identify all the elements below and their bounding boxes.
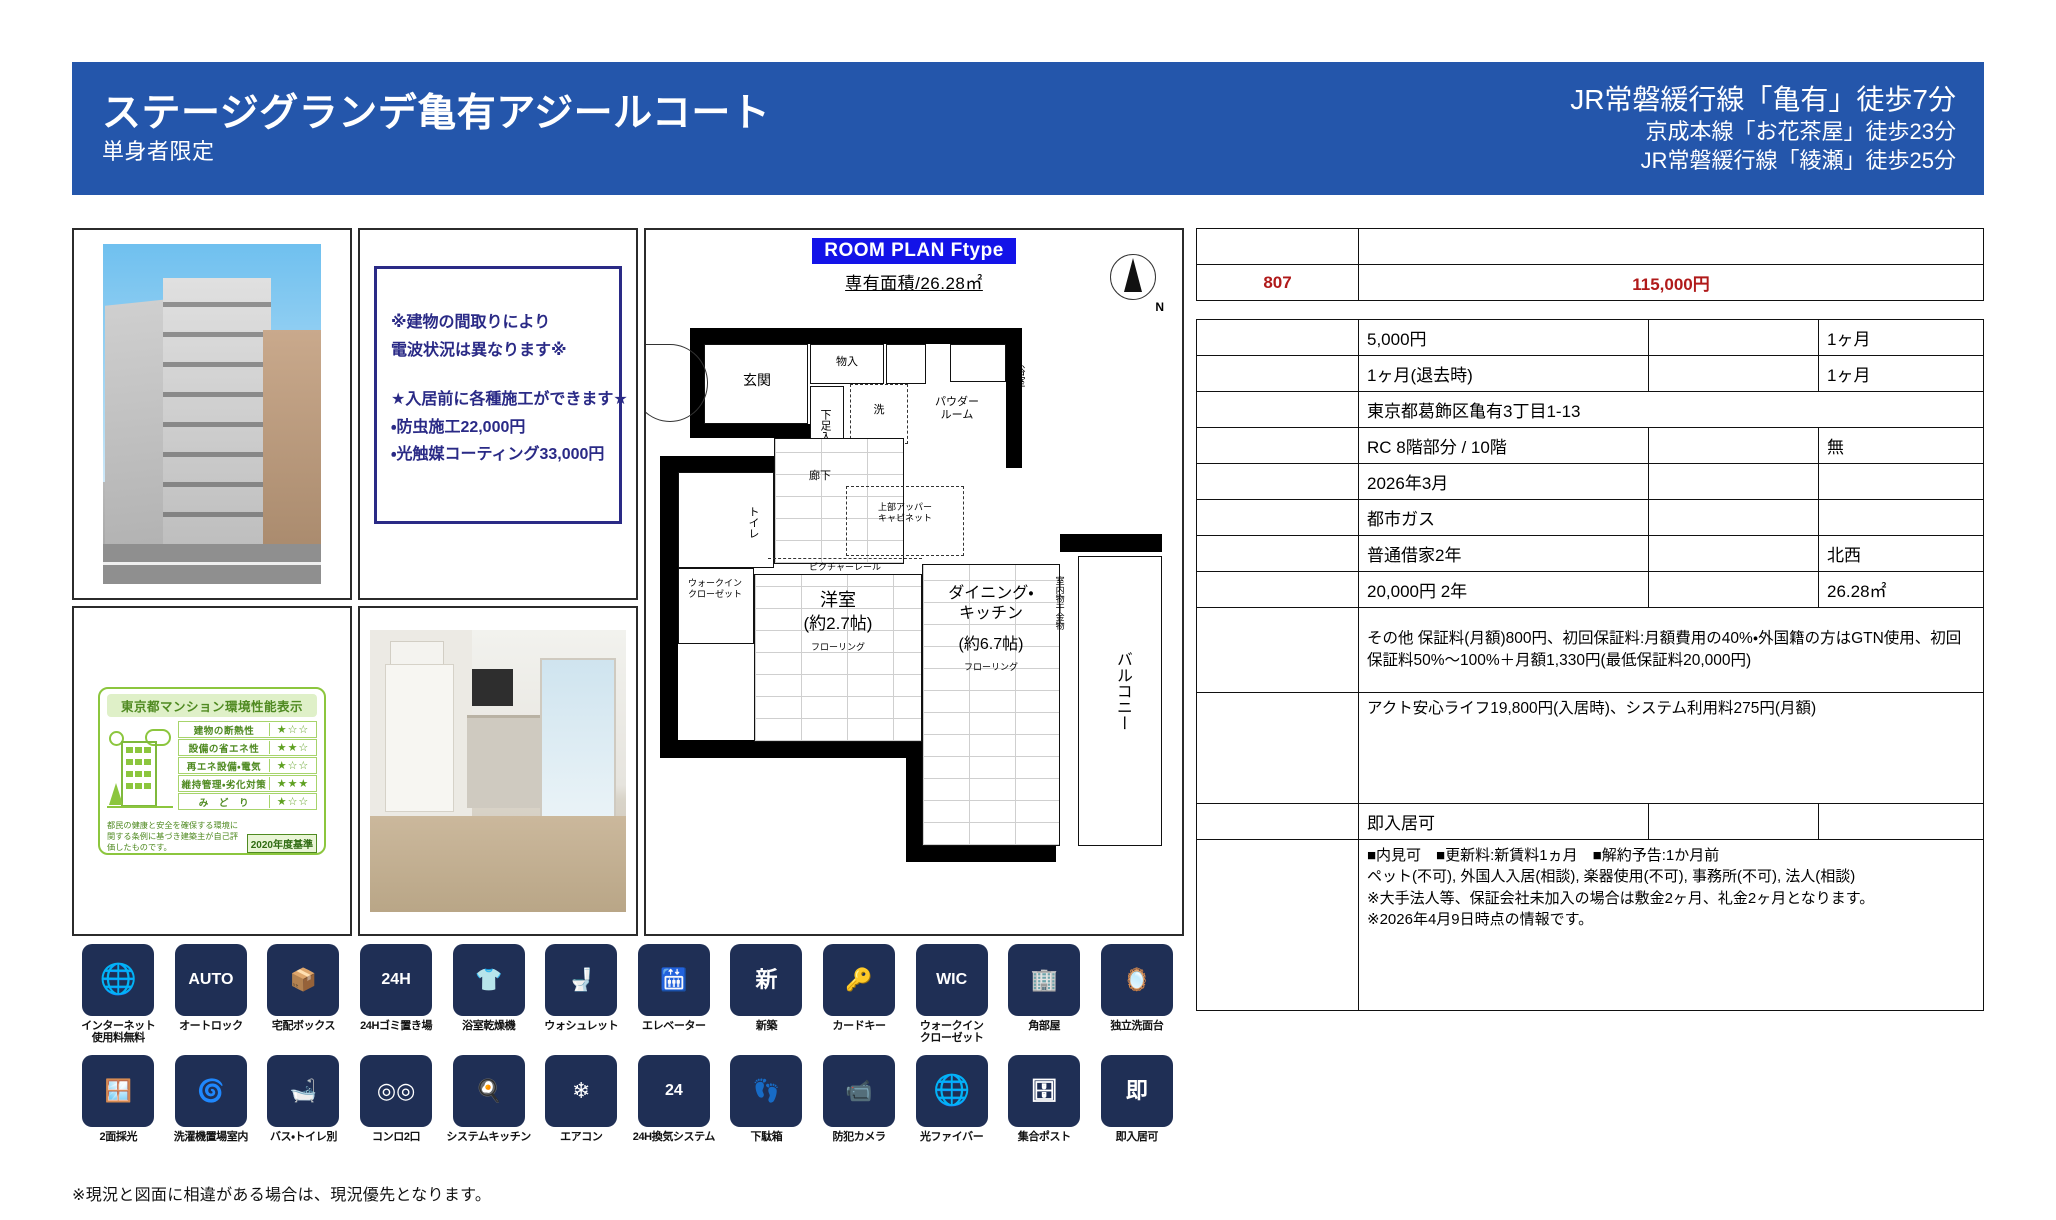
chikunengetsu-value: 2026年3月 [1359, 464, 1649, 500]
facility-label: 2面採光 [100, 1131, 138, 1143]
facility-label: ウォシュレット [544, 1020, 618, 1032]
room-number-header: 号室 [1197, 229, 1359, 265]
facility-item[interactable]: 新新築 [720, 944, 813, 1045]
facility-item[interactable]: 👕浴室乾燥機 [442, 944, 535, 1045]
facility-label: 光ファイバー [920, 1131, 983, 1143]
facility-item[interactable]: ◎◎コンロ2口 [350, 1055, 443, 1143]
plan-label-dk-name: ダイニング・ キッチン [922, 584, 1060, 624]
eco-row-label: 建物の断熱性 [179, 723, 269, 737]
eco-row: み ど り ★☆☆ [178, 793, 317, 810]
eco-row-label: 設備の省エネ性 [179, 741, 269, 755]
walk-in-closet-icon: WIC [916, 944, 988, 1016]
shozaichi-value: 東京都葛飾区亀有3丁目1-13 [1359, 392, 1984, 428]
sonota-value: アクト安心ライフ19,800円(入居時)、システム利用料275円(月額) [1359, 693, 1984, 804]
new-build-icon: 新 [730, 944, 802, 1016]
floor-plan-panel: ROOM PLAN Ftype 専有面積/26.28㎡ N 玄関 物入 [644, 228, 1184, 936]
table-row: 保険 20,000円 2年 専有面積 26.28㎡ [1197, 572, 1984, 608]
details-table: 管理費 5,000円 敷金 1ヶ月 敷引/償却 1ヶ月(退去時) 礼金 1ヶ月 … [1196, 319, 1984, 1011]
interior-photo-image [360, 608, 636, 934]
facility-icon-row-1: 🌐インターネット 使用料無料 AUTOオートロック 📦宅配ボックス 24H24H… [72, 944, 1184, 1045]
immediate-move-in-icon: 即 [1101, 1055, 1173, 1127]
table-row: その他費用 アクト安心ライフ19,800円(入居時)、システム利用料275円(月… [1197, 693, 1984, 804]
eco-performance-label: 東京都マンション環境性能表示 [72, 606, 352, 936]
eco-rating-rows: 建物の断熱性 ★☆☆ 設備の省エネ性 ★★☆ 再エネ設備・電気 ★☆☆ 維持 [178, 721, 317, 817]
facility-item[interactable]: 🪟2面採光 [72, 1055, 165, 1143]
facility-label: 宅配ボックス [272, 1020, 335, 1032]
kouzou-value: RC 8階部分 / 10階 [1359, 428, 1649, 464]
facility-item[interactable]: 🍳システムキッチン [442, 1055, 535, 1143]
floor-plan-area-text: 専有面積/26.28㎡ [646, 269, 1182, 294]
header-banner: ステージグランデ亀有アジールコート 単身者限定 JR常磐緩行線「亀有」徒歩7分 … [72, 62, 1984, 195]
facility-label: コンロ2口 [372, 1131, 420, 1143]
laptop-globe-icon: 🌐 [82, 944, 154, 1016]
eco-row: 再エネ設備・電気 ★☆☆ [178, 757, 317, 774]
price-table-value-row: 807 115,000円 [1197, 265, 1984, 301]
plan-label-bathroom: 浴室 [1012, 346, 1025, 406]
eco-row: 建物の断熱性 ★☆☆ [178, 721, 317, 738]
plan-label-upper-cabinet: 上部アッパー キャビネット [846, 502, 964, 523]
facility-label: 下駄箱 [751, 1131, 783, 1143]
rent-header: 賃料 [1359, 229, 1984, 265]
corner-room-icon: 🏢 [1008, 944, 1080, 1016]
property-listing-sheet: ステージグランデ亀有アジールコート 単身者限定 JR常磐緩行線「亀有」徒歩7分 … [0, 0, 2056, 1220]
eco-row: 維持管理・劣化対策 ★★★ [178, 775, 317, 792]
plan-label-washitsu-size: (約2.7帖) [756, 614, 920, 634]
bikou-line-2: ペット(不可), 外国人入居(相談), 楽器使用(不可), 事務所(不可), 法… [1367, 866, 1975, 887]
facility-label: インターネット 使用料無料 [81, 1020, 155, 1045]
exterior-photo [72, 228, 352, 600]
nyuukyo-value: 即入居可 [1359, 804, 1649, 840]
facility-label: 新築 [756, 1020, 777, 1032]
facility-item[interactable]: 🚽ウォシュレット [535, 944, 628, 1045]
facility-item[interactable]: 🗄集合ポスト [998, 1055, 1091, 1143]
facility-item[interactable]: 🌀洗濯機置場室内 [165, 1055, 258, 1143]
facility-item[interactable]: ❄エアコン [535, 1055, 628, 1143]
facility-item[interactable]: 📦宅配ボックス [257, 944, 350, 1045]
eco-illustration-icon [107, 721, 173, 817]
table-row: 敷引/償却 1ヶ月(退去時) 礼金 1ヶ月 [1197, 356, 1984, 392]
mail-post-icon: 🗄 [1008, 1055, 1080, 1127]
eco-row-label: 再エネ設備・電気 [179, 759, 269, 773]
header-left: ステージグランデ亀有アジールコート 単身者限定 [102, 94, 770, 163]
air-conditioner-icon: ❄ [545, 1055, 617, 1127]
note-line-3: ★入居前に各種施工ができます★ [391, 386, 607, 414]
hoken-label: 保険 [1197, 572, 1359, 608]
facility-item[interactable]: 🪞独立洗面台 [1091, 944, 1184, 1045]
floor-plan-drawing: 玄関 物入 下足入 洗 パウダー ルーム 浴室 トイレ 廊下 [660, 306, 1172, 924]
chikunengetsu-label: 築年月 [1197, 464, 1359, 500]
reikin-label: 礼金 [1649, 356, 1819, 392]
facility-label: ウォークイン クローゼット [920, 1020, 984, 1045]
floor-plan-banner: ROOM PLAN Ftype [812, 238, 1016, 264]
note-line-4: ・防虫施工22,000円 [391, 414, 607, 442]
station-access-2: 京成本線「お花茶屋」徒歩23分 [1646, 119, 1956, 144]
chuurinjo-label: 駐輪場 [1649, 500, 1819, 536]
note-line-5: ・光触媒コーティング33,000円 [391, 441, 607, 469]
eco-row-stars: ★☆☆ [269, 795, 316, 808]
24h-trash-icon: 24H [360, 944, 432, 1016]
building-subtitle: 単身者限定 [102, 141, 770, 163]
bikou-line-4: ※2026年4月9日時点の情報です。 [1367, 909, 1975, 930]
independent-basin-icon: 🪞 [1101, 944, 1173, 1016]
bikou-line-3: ※大手法人等、保証会社未加入の場合は敷金2ヶ月、礼金2ヶ月となります。 [1367, 888, 1975, 909]
plan-label-sentaku: 洗 [856, 404, 902, 417]
bikou-line-1: ■内見可 ■更新料:新賃料1ヵ月 ■解約予告:1か月前 [1367, 845, 1975, 866]
facility-label: 24Hゴミ置き場 [360, 1020, 432, 1032]
shikikin-value: 1ヶ月 [1819, 320, 1984, 356]
compass-icon [1110, 254, 1156, 300]
interior-photo [358, 606, 638, 936]
note-inner-frame: ※建物の間取りにより 電波状況は異なります※ ★入居前に各種施工ができます★ ・… [374, 266, 622, 524]
facility-item[interactable]: 🛗エレベーター [628, 944, 721, 1045]
floor-plan-header: ROOM PLAN Ftype 専有面積/26.28㎡ [646, 238, 1182, 294]
delivery-box-icon: 📦 [267, 944, 339, 1016]
gas-label: ガス [1197, 500, 1359, 536]
facility-label: 洗濯機置場室内 [174, 1131, 248, 1143]
facility-item[interactable]: 24H24Hゴミ置き場 [350, 944, 443, 1045]
two-burner-stove-icon: ◎◎ [360, 1055, 432, 1127]
gas-value: 都市ガス [1359, 500, 1649, 536]
facility-item[interactable]: 🌐インターネット 使用料無料 [72, 944, 165, 1045]
baiku-label: バイク置場 [1649, 464, 1819, 500]
facility-icon-grid: 🌐インターネット 使用料無料 AUTOオートロック 📦宅配ボックス 24H24H… [72, 944, 1184, 1143]
facility-item[interactable]: 🌐光ファイバー [905, 1055, 998, 1143]
security-camera-icon: 📹 [823, 1055, 895, 1127]
table-row: 契約期間 普通借家2年 開口向き 北西 [1197, 536, 1984, 572]
plan-label-monohoshi: 室内物干金物 [1054, 542, 1065, 664]
station-access-3: JR常磐緩行線「綾瀬」徒歩25分 [1641, 148, 1956, 173]
facility-item[interactable]: AUTOオートロック [165, 944, 258, 1045]
plan-label-dk-size: (約6.7帖) [922, 636, 1060, 655]
table-row: 所在地 東京都葛飾区亀有3丁目1-13 [1197, 392, 1984, 428]
exterior-photo-image [74, 230, 350, 598]
plan-label-picture-rail: ピクチャーレール [770, 562, 920, 573]
24h-ventilation-icon: 24 [638, 1055, 710, 1127]
eco-label-wrapper: 東京都マンション環境性能表示 [74, 608, 350, 934]
keiyaku-value: 普通借家2年 [1359, 536, 1649, 572]
eco-row-stars: ★★★ [269, 777, 316, 790]
plan-label-genkan: 玄関 [722, 372, 792, 389]
facility-item[interactable]: 2424H換気システム [628, 1055, 721, 1143]
eco-label-title: 東京都マンション環境性能表示 [107, 694, 317, 717]
facility-label: 24H換気システム [633, 1131, 715, 1143]
eco-row-stars: ★☆☆ [269, 759, 316, 772]
facility-item[interactable]: 🏢角部屋 [998, 944, 1091, 1045]
shozaichi-label: 所在地 [1197, 392, 1359, 428]
hoshou-label: 保証会社 [1197, 608, 1359, 693]
kouzou-label: 構造・階建 [1197, 428, 1359, 464]
facility-item[interactable]: 🛁バス・トイレ別 [257, 1055, 350, 1143]
facility-label: 角部屋 [1028, 1020, 1060, 1032]
washlet-icon: 🚽 [545, 944, 617, 1016]
hoshou-value: その他 保証料(月額)800円、初回保証料:月額費用の40%・外国籍の方はGTN… [1359, 608, 1984, 693]
facility-label: 集合ポスト [1018, 1131, 1071, 1143]
washer-indoor-icon: 🌀 [175, 1055, 247, 1127]
senyuu-value: 26.28㎡ [1819, 572, 1984, 608]
facility-label: 即入居可 [1116, 1131, 1158, 1143]
plan-label-dk-floor: フローリング [922, 662, 1060, 673]
disclaimer-text: ※現況と図面に相違がある場合は、現況優先となります。 [72, 1181, 491, 1205]
chushajo-value: 無 [1819, 428, 1984, 464]
eco-row-label: み ど り [179, 795, 269, 809]
plan-label-balcony: バルコニー [1112, 606, 1131, 776]
facility-label: オートロック [179, 1020, 243, 1032]
note-line-1: ※建物の間取りにより [391, 309, 607, 337]
kanrihi-label: 管理費 [1197, 320, 1359, 356]
plan-label-washitsu-name: 洋室 [756, 590, 920, 611]
eco-row-label: 維持管理・劣化対策 [179, 777, 269, 791]
facility-label: エアコン [560, 1131, 602, 1143]
facility-label: エレベーター [642, 1020, 706, 1032]
plan-label-washitsu-floor: フローリング [756, 642, 920, 653]
taikyo-label: 退去予定日 [1649, 804, 1819, 840]
plan-label-monoire: 物入 [816, 356, 878, 369]
system-kitchen-icon: 🍳 [453, 1055, 525, 1127]
facility-label: 防犯カメラ [833, 1131, 886, 1143]
kanrihi-value: 5,000円 [1359, 320, 1649, 356]
chuurinjo-value [1819, 500, 1984, 536]
table-row: 管理費 5,000円 敷金 1ヶ月 [1197, 320, 1984, 356]
card-key-icon: 🔑 [823, 944, 895, 1016]
facility-label: 浴室乾燥機 [462, 1020, 515, 1032]
table-row: ガス 都市ガス 駐輪場 [1197, 500, 1984, 536]
eco-year-badge: 2020年度基準 [247, 834, 317, 853]
auto-lock-icon: AUTO [175, 944, 247, 1016]
shikibiki-value: 1ヶ月(退去時) [1359, 356, 1649, 392]
bath-toilet-separate-icon: 🛁 [267, 1055, 339, 1127]
rent-value: 115,000円 [1359, 265, 1984, 301]
facility-item[interactable]: 即即入居可 [1091, 1055, 1184, 1143]
price-table-header-row: 号室 賃料 [1197, 229, 1984, 265]
room-number-value: 807 [1197, 265, 1359, 301]
facility-item[interactable]: 🔑カードキー [813, 944, 906, 1045]
kaikou-label: 開口向き [1649, 536, 1819, 572]
eco-row: 設備の省エネ性 ★★☆ [178, 739, 317, 756]
plan-label-powder-room: パウダー ルーム [910, 396, 1004, 422]
facility-label: システムキッチン [446, 1131, 530, 1143]
optical-fiber-icon: 🌐 [916, 1055, 988, 1127]
construction-note-box: ※建物の間取りにより 電波状況は異なります※ ★入居前に各種施工ができます★ ・… [358, 228, 638, 600]
facility-label: カードキー [833, 1020, 886, 1032]
price-table: 号室 賃料 807 115,000円 [1196, 228, 1984, 301]
eco-row-stars: ★★☆ [269, 741, 316, 754]
table-row: 築年月 2026年3月 バイク置場 [1197, 464, 1984, 500]
station-access-1: JR常磐緩行線「亀有」徒歩7分 [1570, 84, 1956, 116]
elevator-icon: 🛗 [638, 944, 710, 1016]
senyuu-label: 専有面積 [1649, 572, 1819, 608]
plan-label-wic: ウォークイン クローゼット [666, 578, 764, 599]
facility-item[interactable]: WICウォークイン クローゼット [905, 944, 998, 1045]
plan-label-corridor: 廊下 [778, 470, 862, 483]
facility-item[interactable]: 👣下駄箱 [720, 1055, 813, 1143]
two-side-light-icon: 🪟 [82, 1055, 154, 1127]
chushajo-label: 駐車場 [1649, 428, 1819, 464]
table-row: 保証会社 その他 保証料(月額)800円、初回保証料:月額費用の40%・外国籍の… [1197, 608, 1984, 693]
facility-icon-row-2: 🪟2面採光 🌀洗濯機置場室内 🛁バス・トイレ別 ◎◎コンロ2口 🍳システムキッチ… [72, 1055, 1184, 1143]
baiku-value [1819, 464, 1984, 500]
keiyaku-label: 契約期間 [1197, 536, 1359, 572]
bikou-value: ■内見可 ■更新料:新賃料1ヵ月 ■解約予告:1か月前 ペット(不可), 外国人… [1359, 840, 1984, 1011]
eco-label-note: 都民の健康と安全を確保する環境に関する条例に基づき建築主が自己評価したものです。 [107, 820, 243, 853]
sonota-label: その他費用 [1197, 693, 1359, 804]
facility-label: 独立洗面台 [1110, 1020, 1163, 1032]
property-details-table: 号室 賃料 807 115,000円 管理費 5,000円 敷金 1ヶ月 敷引/… [1196, 228, 1984, 1011]
shoe-box-icon: 👣 [730, 1055, 802, 1127]
building-name: ステージグランデ亀有アジールコート [102, 94, 770, 135]
taikyo-value [1819, 804, 1984, 840]
nyuukyo-label: 入居時期 [1197, 804, 1359, 840]
table-row: 入居時期 即入居可 退去予定日 [1197, 804, 1984, 840]
hoken-value: 20,000円 2年 [1359, 572, 1649, 608]
bikou-label: 備考 [1197, 840, 1359, 1011]
eco-row-stars: ★☆☆ [269, 723, 316, 736]
reikin-value: 1ヶ月 [1819, 356, 1984, 392]
facility-label: バス・トイレ別 [270, 1131, 337, 1143]
plan-label-toilet: トイレ [746, 482, 759, 562]
note-line-2: 電波状況は異なります※ [391, 337, 607, 365]
bath-dryer-icon: 👕 [453, 944, 525, 1016]
kaikou-value: 北西 [1819, 536, 1984, 572]
table-row: 備考 ■内見可 ■更新料:新賃料1ヵ月 ■解約予告:1か月前 ペット(不可), … [1197, 840, 1984, 1011]
table-row: 構造・階建 RC 8階部分 / 10階 駐車場 無 [1197, 428, 1984, 464]
header-right: JR常磐緩行線「亀有」徒歩7分 京成本線「お花茶屋」徒歩23分 JR常磐緩行線「… [1570, 84, 1956, 173]
facility-item[interactable]: 📹防犯カメラ [813, 1055, 906, 1143]
shikibiki-label: 敷引/償却 [1197, 356, 1359, 392]
shikikin-label: 敷金 [1649, 320, 1819, 356]
